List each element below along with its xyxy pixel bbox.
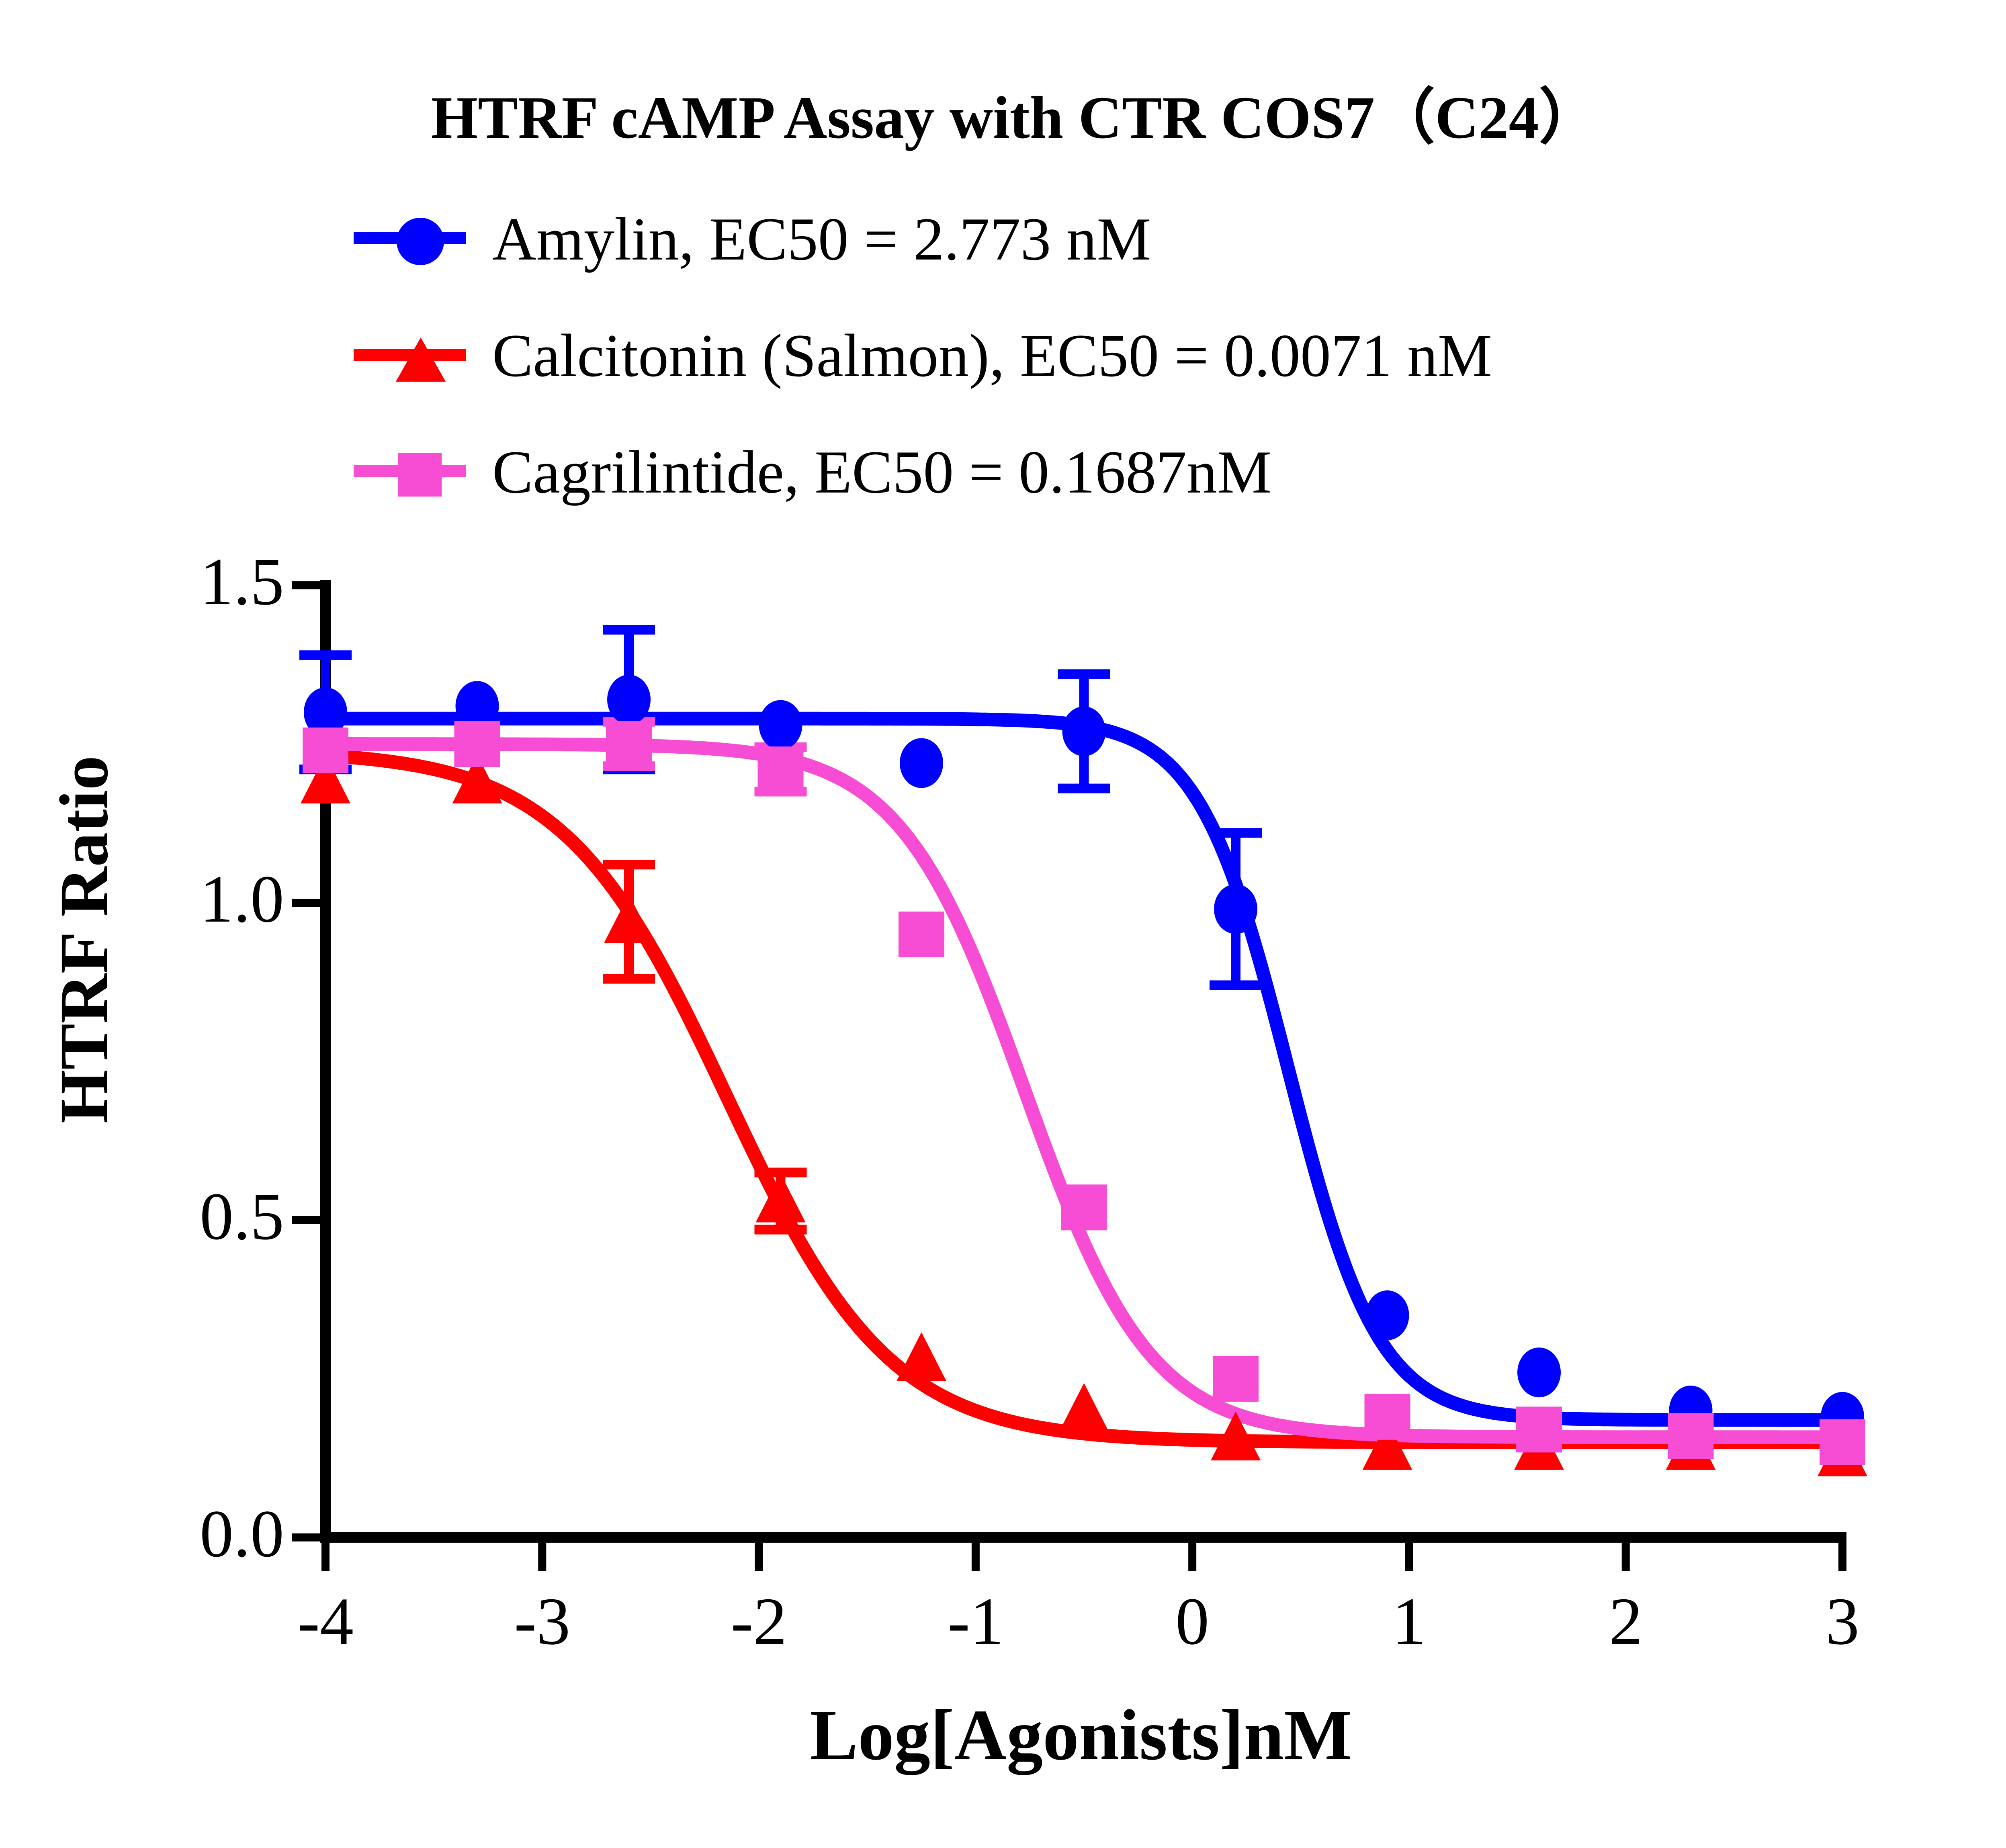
chart-canvas bbox=[0, 0, 2006, 1848]
plot-area bbox=[0, 0, 2006, 1848]
y-tick-label: 1.0 bbox=[107, 861, 284, 938]
x-tick-label: -3 bbox=[482, 1583, 602, 1660]
y-tick-label: 0.0 bbox=[107, 1495, 284, 1573]
x-tick-label: 3 bbox=[1782, 1583, 1903, 1660]
x-tick-label: -4 bbox=[265, 1583, 386, 1660]
x-tick-label: 0 bbox=[1132, 1583, 1253, 1660]
figure-root: HTRF cAMP Assay with CTR COS7（C24） Amyli… bbox=[0, 0, 2006, 1848]
x-tick-label: 1 bbox=[1349, 1583, 1469, 1660]
x-tick-label: -2 bbox=[699, 1583, 819, 1660]
error-bars-amylin bbox=[299, 625, 1262, 990]
x-tick-label: -1 bbox=[915, 1583, 1036, 1660]
y-tick-label: 0.5 bbox=[107, 1178, 284, 1255]
curve-calcitonin-salmon bbox=[325, 756, 1842, 1443]
data-points-cagrilintide bbox=[303, 721, 1865, 1465]
curve-cagrilintide bbox=[325, 744, 1842, 1437]
x-axis-title: Log[Agonists]nM bbox=[305, 1693, 1857, 1776]
x-tick-label: 2 bbox=[1566, 1583, 1686, 1660]
y-tick-label: 1.5 bbox=[107, 543, 284, 621]
data-points-calcitonin-salmon bbox=[301, 754, 1867, 1476]
